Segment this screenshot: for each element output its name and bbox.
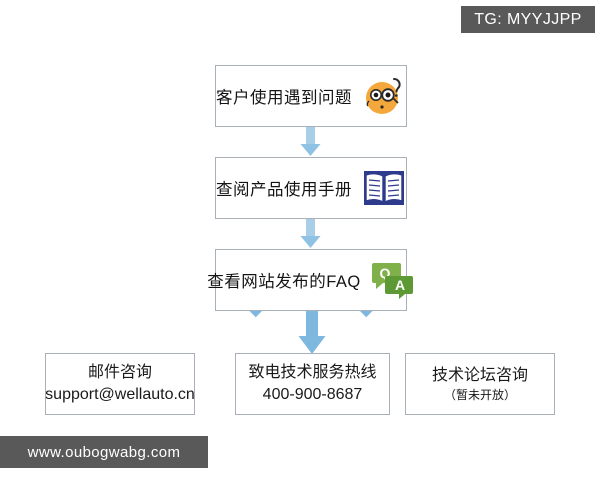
- flow-node-email[interactable]: 邮件咨询 support@wellauto.cn: [45, 353, 195, 415]
- flow-node-forum-status: （暂未开放）: [444, 387, 516, 403]
- qa-speech-bubbles-icon: Q A: [371, 259, 415, 301]
- watermark-top-right: TG: MYYJJPP: [461, 6, 595, 33]
- flow-node-faq-label: 查看网站发布的FAQ: [207, 268, 361, 292]
- flow-node-manual-label: 查阅产品使用手册: [216, 176, 352, 200]
- flow-node-problem[interactable]: 客户使用遇到问题: [215, 65, 407, 127]
- flow-node-forum[interactable]: 技术论坛咨询 （暂未开放）: [405, 353, 555, 415]
- flow-node-manual[interactable]: 查阅产品使用手册: [215, 157, 407, 219]
- connector-problem-to-manual: [295, 127, 327, 157]
- qa-icon-a-letter: A: [395, 277, 405, 293]
- flow-node-hotline-title: 致电技术服务热线: [248, 362, 376, 384]
- confused-face-icon: [362, 74, 406, 118]
- connector-faq-to-hotline: [296, 311, 328, 355]
- flow-node-faq[interactable]: 查看网站发布的FAQ Q A: [215, 249, 407, 311]
- flow-node-forum-title: 技术论坛咨询: [432, 365, 528, 387]
- connector-faq-to-email: [196, 311, 266, 357]
- connector-faq-to-forum: [356, 311, 426, 357]
- connector-manual-to-faq: [295, 219, 327, 249]
- flow-node-email-title: 邮件咨询: [88, 362, 152, 384]
- flow-node-hotline-number: 400-900-8687: [263, 384, 363, 406]
- flow-node-email-address: support@wellauto.cn: [45, 384, 195, 406]
- open-book-icon: [362, 167, 406, 209]
- flow-node-hotline[interactable]: 致电技术服务热线 400-900-8687: [235, 353, 390, 415]
- watermark-bottom-left: www.oubogwabg.com: [0, 436, 208, 468]
- flow-node-problem-label: 客户使用遇到问题: [216, 84, 352, 108]
